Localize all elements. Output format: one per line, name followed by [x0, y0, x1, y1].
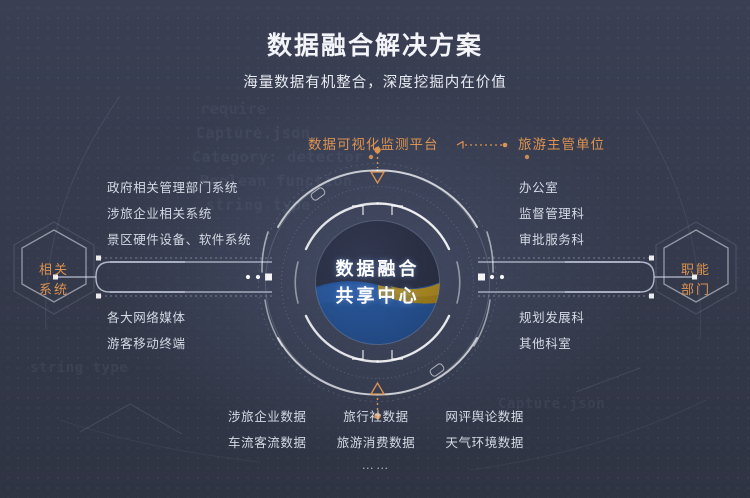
bottom-data-grid: 涉旅企业数据 旅行社数据 网评舆论数据 车流客流数据 旅游消费数据 天气环境数据… [228, 404, 524, 472]
page-subtitle: 海量数据有机整合，深度挖掘内在价值 [0, 71, 750, 92]
data-cell: 涉旅企业数据 [228, 404, 320, 430]
column-related-systems-top: 政府相关管理部门系统 涉旅企业相关系统 景区硬件设备、软件系统 [107, 175, 251, 253]
hexagon-related-systems[interactable]: 相关 系统 [8, 230, 100, 330]
hexagon-left-label: 相关 系统 [8, 230, 100, 330]
label-tourism-authority[interactable]: 旅游主管单位 [518, 133, 605, 153]
list-item: 涉旅企业相关系统 [107, 201, 251, 227]
list-item: 监督管理科 [519, 201, 585, 227]
list-item: 审批服务科 [519, 227, 585, 253]
list-item: 政府相关管理部门系统 [107, 175, 251, 201]
data-cell: 旅游消费数据 [330, 430, 422, 456]
hexagon-right-label: 职能 部门 [650, 230, 742, 330]
data-cell: 天气环境数据 [432, 430, 524, 456]
dotted-left-arrow-icon [448, 140, 510, 150]
page-title: 数据融合解决方案 [0, 26, 750, 62]
table-row: 车流客流数据 旅游消费数据 天气环境数据 [228, 430, 524, 456]
hexagon-functional-departments[interactable]: 职能 部门 [650, 230, 742, 330]
column-departments-top: 办公室 监督管理科 审批服务科 [519, 175, 585, 253]
center-line2: 共享中心 [336, 283, 420, 310]
list-item: 各大网络媒体 [107, 305, 186, 331]
data-ellipsis: …… [228, 458, 524, 472]
list-item: 办公室 [519, 175, 585, 201]
column-departments-bottom: 规划发展科 其他科室 [519, 305, 585, 357]
column-related-systems-bottom: 各大网络媒体 游客移动终端 [107, 305, 186, 357]
list-item: 游客移动终端 [107, 331, 186, 357]
center-line1: 数据融合 [336, 256, 420, 283]
hexagon-right-line2: 部门 [681, 280, 711, 300]
data-cell: 网评舆论数据 [432, 404, 524, 430]
list-item: 其他科室 [519, 331, 585, 357]
hexagon-right-line1: 职能 [681, 260, 711, 280]
data-cell: 旅行社数据 [330, 404, 422, 430]
center-label: 数据融合 共享中心 [255, 160, 500, 405]
label-visualization-platform[interactable]: 数据可视化监测平台 [308, 133, 439, 153]
data-cell: 车流客流数据 [228, 430, 320, 456]
list-item: 规划发展科 [519, 305, 585, 331]
list-item: 景区硬件设备、软件系统 [107, 227, 251, 253]
data-fusion-center[interactable]: 数据融合 共享中心 [255, 160, 500, 405]
table-row: 涉旅企业数据 旅行社数据 网评舆论数据 [228, 404, 524, 430]
hexagon-left-line1: 相关 [39, 260, 69, 280]
hexagon-left-line2: 系统 [39, 280, 69, 300]
infographic-canvas: require Capture.json Category: detector … [0, 0, 750, 498]
